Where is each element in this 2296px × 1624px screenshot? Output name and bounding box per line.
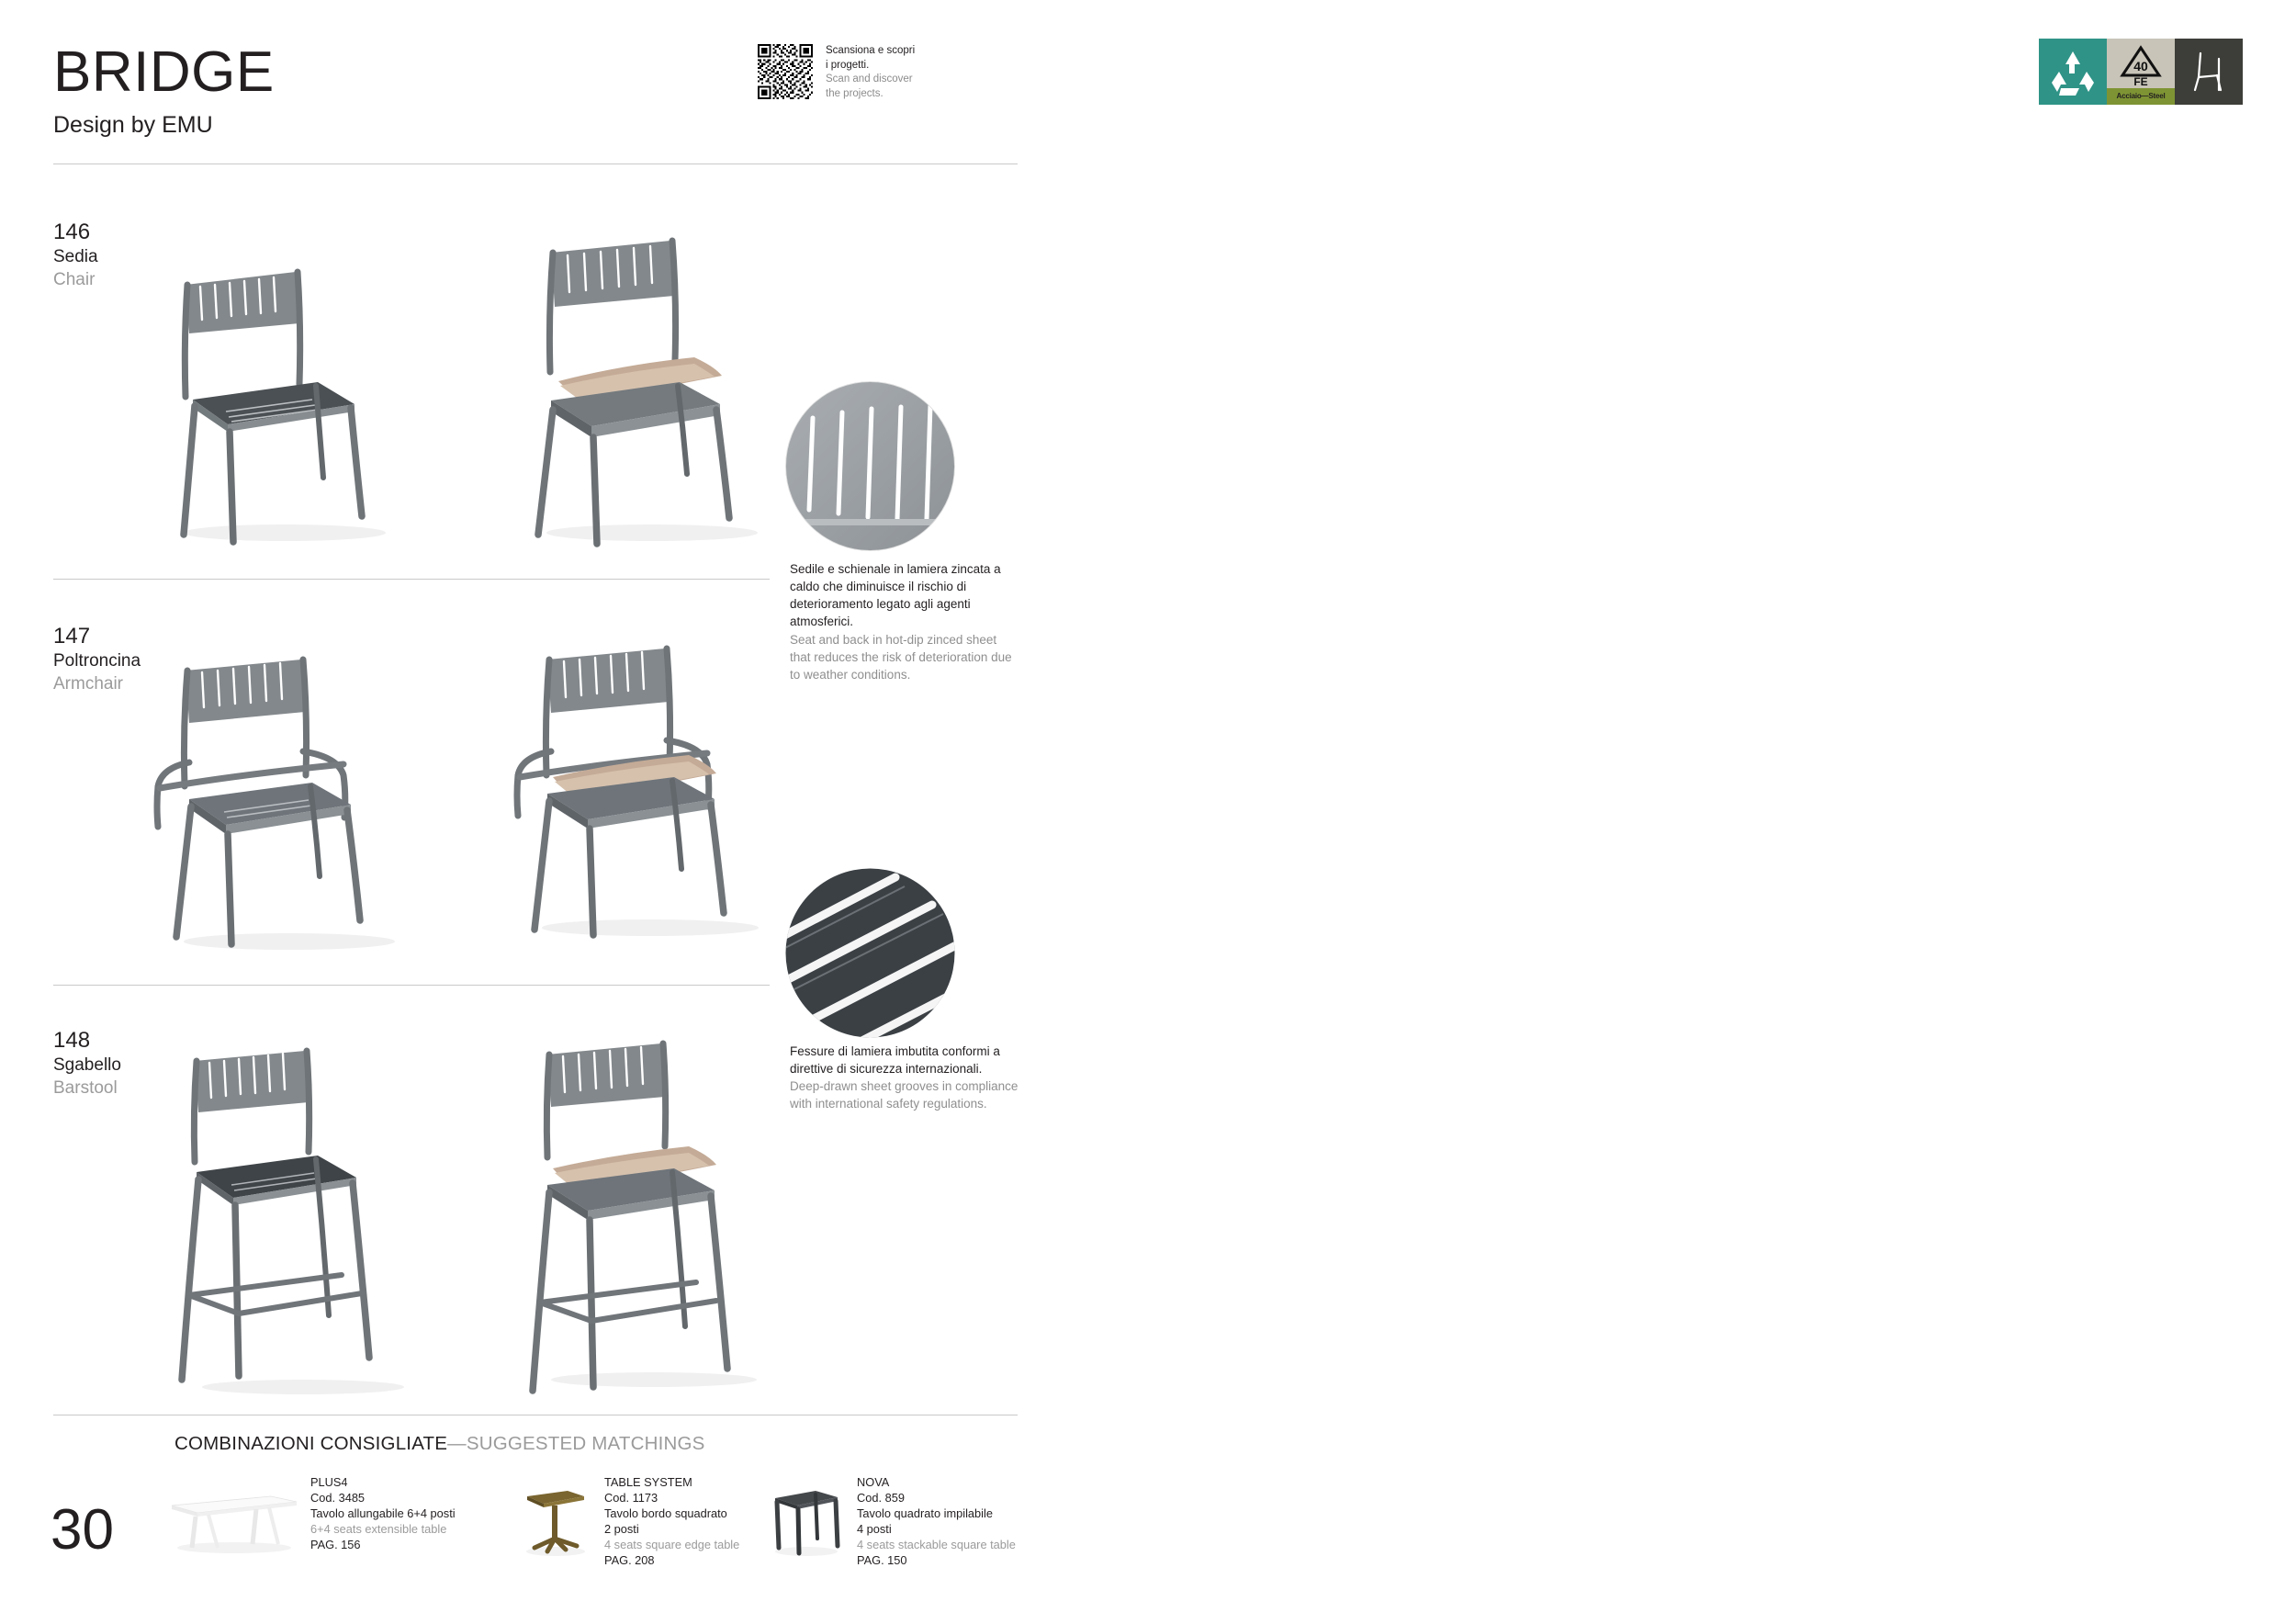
matching-text: NOVA Cod. 859 Tavolo quadrato impilabile…	[857, 1474, 1016, 1568]
product-name-it: Sgabello	[53, 1054, 121, 1077]
product-photo-147	[129, 615, 790, 974]
matching-desc-it2: 4 posti	[857, 1521, 1016, 1537]
matching-desc-it: Tavolo allungabile 6+4 posti	[310, 1506, 456, 1521]
product-name-en: Armchair	[53, 673, 141, 696]
matching-desc-en: 4 seats stackable square table	[857, 1537, 1016, 1552]
certification-badges: 40 FE Acciaio—Steel	[2039, 39, 2243, 105]
product-photo-148	[138, 1020, 781, 1405]
detail-photo-deep-drawn-grooves	[785, 868, 955, 1038]
matching-item-table-system[interactable]: TABLE SYSTEM Cod. 1173 Tavolo bordo squa…	[514, 1474, 739, 1568]
feature-note-2: Fessure di lamiera imbutita conformi a d…	[790, 1043, 1019, 1113]
divider-top	[53, 164, 1018, 164]
product-name-en: Barstool	[53, 1077, 121, 1100]
matching-name: NOVA	[857, 1474, 1016, 1490]
chair-badge	[2175, 39, 2243, 105]
feature-note-en: Seat and back in hot-dip zinced sheet th…	[790, 631, 1019, 683]
divider-mid-2	[53, 985, 770, 986]
chair-outline-icon	[2175, 39, 2243, 105]
feature-note-1: Sedile e schienale in lamiera zincata a …	[790, 560, 1019, 683]
product-name-it: Sedia	[53, 246, 98, 269]
matching-code: Cod. 1173	[604, 1490, 739, 1506]
qr-code-icon[interactable]	[758, 44, 813, 99]
matching-text: PLUS4 Cod. 3485 Tavolo allungabile 6+4 p…	[310, 1474, 456, 1552]
qr-caption-en-1: Scan and discover	[826, 73, 915, 87]
product-photo-146	[138, 211, 781, 560]
matching-desc-it: Tavolo bordo squadrato	[604, 1506, 739, 1521]
matching-name: PLUS4	[310, 1474, 456, 1490]
detail-photo-seat-grooves	[785, 381, 955, 551]
matching-desc-it: Tavolo quadrato impilabile	[857, 1506, 1016, 1521]
table-plus4-thumbnail	[161, 1474, 303, 1562]
divider-mid-1	[53, 579, 770, 580]
qr-block[interactable]: Scansiona e scopri i progetti. Scan and …	[758, 44, 915, 101]
qr-caption-en-2: the projects.	[826, 87, 915, 102]
qr-caption-it-1: Scansiona e scopri	[826, 44, 915, 59]
recycle-icon	[2039, 39, 2107, 105]
feature-note-it: Fessure di lamiera imbutita conformi a d…	[790, 1043, 1019, 1077]
qr-caption: Scansiona e scopri i progetti. Scan and …	[826, 44, 915, 101]
product-label-147: 147 Poltroncina Armchair	[53, 623, 141, 695]
product-name-en: Chair	[53, 269, 98, 292]
matching-desc-it2: 2 posti	[604, 1521, 739, 1537]
recycle-badge	[2039, 39, 2107, 105]
product-code: 146	[53, 219, 98, 246]
product-name-it: Poltroncina	[53, 650, 141, 673]
divider-bottom	[53, 1415, 1018, 1415]
title-block: BRIDGE Design by EMU	[53, 44, 275, 139]
matching-page: PAG. 150	[857, 1552, 1016, 1568]
matching-desc-en: 6+4 seats extensible table	[310, 1521, 456, 1537]
designer-credit: Design by EMU	[53, 112, 275, 139]
steel-badge: 40 FE Acciaio—Steel	[2107, 39, 2175, 105]
steel-label: Acciaio—Steel	[2107, 88, 2175, 105]
qr-caption-it-2: i progetti.	[826, 59, 915, 73]
product-label-148: 148 Sgabello Barstool	[53, 1027, 121, 1100]
product-label-146: 146 Sedia Chair	[53, 219, 98, 291]
feature-note-en: Deep-drawn sheet grooves in compliance w…	[790, 1077, 1019, 1112]
matching-page: PAG. 208	[604, 1552, 739, 1568]
table-system-thumbnail	[514, 1474, 597, 1562]
catalog-spread: BRIDGE Design by EMU	[0, 0, 2296, 1624]
right-page: 40 FE Acciaio—Steel PRODOTTI—P	[1148, 0, 2296, 1624]
product-code: 148	[53, 1027, 121, 1054]
left-page: BRIDGE Design by EMU	[0, 0, 1148, 1624]
matching-name: TABLE SYSTEM	[604, 1474, 739, 1490]
matching-desc-en: 4 seats square edge table	[604, 1537, 739, 1552]
matching-item-plus4[interactable]: PLUS4 Cod. 3485 Tavolo allungabile 6+4 p…	[161, 1474, 456, 1562]
product-code: 147	[53, 623, 141, 650]
matching-text: TABLE SYSTEM Cod. 1173 Tavolo bordo squa…	[604, 1474, 739, 1568]
suggested-matchings-title: COMBINAZIONI CONSIGLIATE—SUGGESTED MATCH…	[174, 1433, 705, 1455]
fe-symbol: FE	[2133, 75, 2147, 88]
matchings-title-en: SUGGESTED MATCHINGS	[467, 1433, 705, 1454]
matching-code: Cod. 3485	[310, 1490, 456, 1506]
matching-page: PAG. 156	[310, 1537, 456, 1552]
matchings-title-sep: —	[447, 1433, 467, 1454]
matchings-title-it: COMBINAZIONI CONSIGLIATE	[174, 1433, 447, 1454]
page-title: BRIDGE	[53, 44, 275, 101]
feature-note-it: Sedile e schienale in lamiera zincata a …	[790, 560, 1019, 631]
table-nova-thumbnail	[762, 1474, 850, 1562]
matching-item-nova[interactable]: NOVA Cod. 859 Tavolo quadrato impilabile…	[762, 1474, 1016, 1568]
fe-triangle-icon: 40 FE	[2107, 39, 2175, 88]
page-number-left: 30	[51, 1502, 114, 1559]
fe-number: 40	[2133, 59, 2148, 73]
matching-code: Cod. 859	[857, 1490, 1016, 1506]
